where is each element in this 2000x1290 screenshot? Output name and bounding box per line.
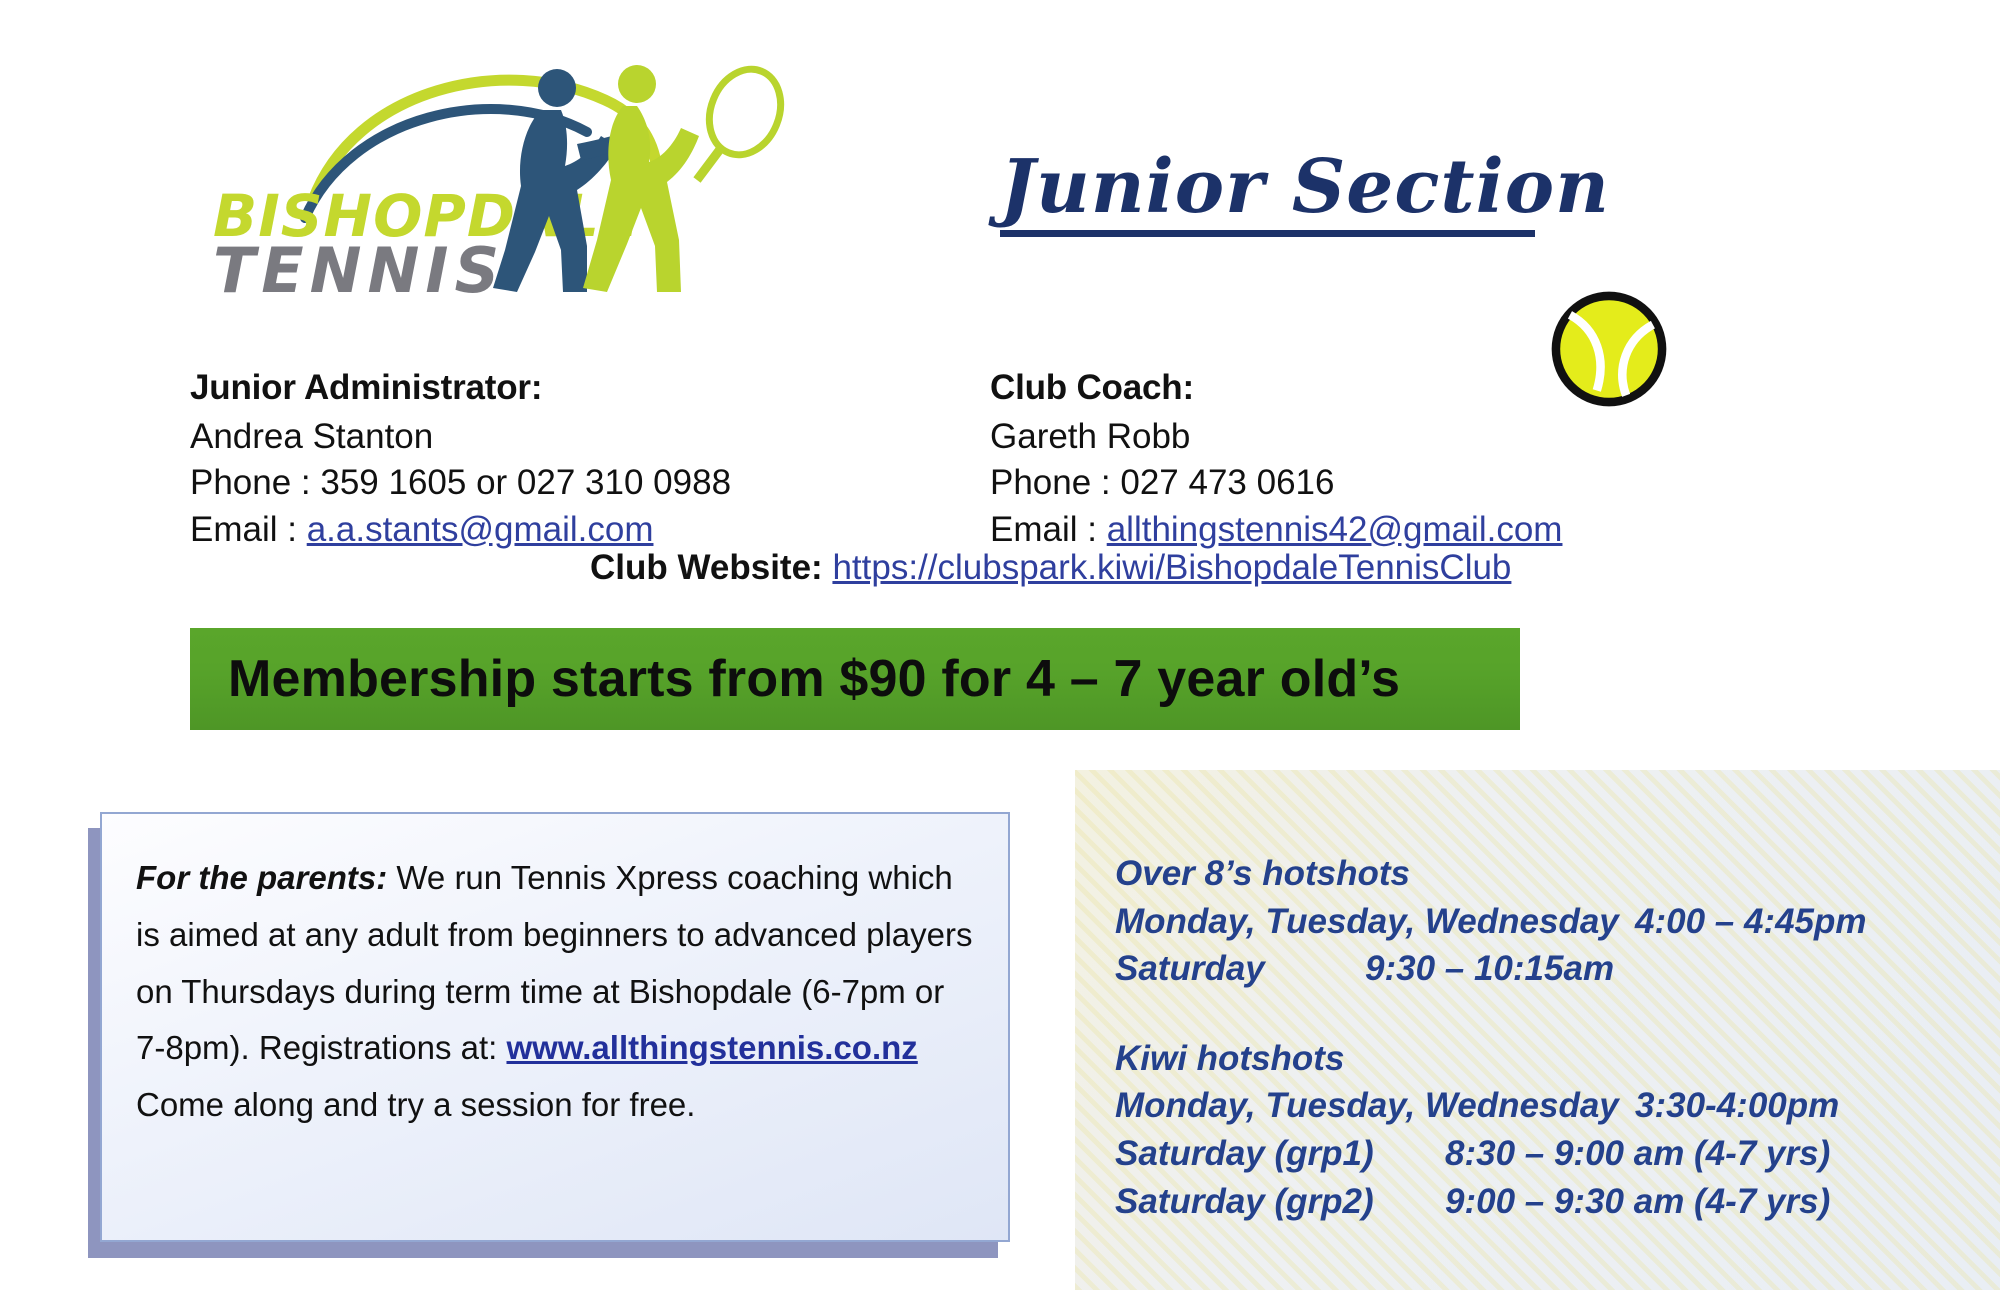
- admin-email-label: Email :: [190, 510, 307, 549]
- schedule-row: Saturday (grp2) 9:00 – 9:30 am (4-7 yrs): [1115, 1178, 2000, 1226]
- admin-name: Andrea Stanton: [190, 414, 830, 461]
- coach-email-line: Email : allthingstennis42@gmail.com: [990, 507, 1630, 554]
- schedule-group-over8s: Over 8’s hotshots Monday, Tuesday, Wedne…: [1115, 850, 2000, 993]
- schedule-time: 3:30-4:00pm: [1635, 1082, 1839, 1130]
- schedule-group-title: Over 8’s hotshots: [1115, 850, 2000, 898]
- coach-email-label: Email :: [990, 510, 1107, 549]
- coach-email-link[interactable]: allthingstennis42@gmail.com: [1107, 510, 1563, 549]
- club-website-label: Club Website:: [590, 548, 823, 587]
- schedule-day: Saturday: [1115, 945, 1365, 993]
- membership-banner-text: Membership starts from $90 for 4 – 7 yea…: [190, 649, 1400, 709]
- logo-racquet: [697, 58, 793, 180]
- club-website-link[interactable]: https://clubspark.kiwi/BishopdaleTennisC…: [832, 548, 1511, 587]
- schedule-day: Monday, Tuesday, Wednesday: [1115, 898, 1635, 946]
- schedule-time: 9:30 – 10:15am: [1365, 945, 1614, 993]
- title-underline: [1000, 230, 1535, 237]
- admin-heading: Junior Administrator:: [190, 365, 830, 412]
- schedule-day: Saturday (grp2): [1115, 1178, 1445, 1226]
- contact-admin: Junior Administrator: Andrea Stanton Pho…: [190, 365, 830, 553]
- schedule-group-title: Kiwi hotshots: [1115, 1035, 2000, 1083]
- parents-info-box: For the parents: We run Tennis Xpress co…: [100, 812, 1010, 1242]
- admin-email-line: Email : a.a.stants@gmail.com: [190, 507, 830, 554]
- schedule-panel: Over 8’s hotshots Monday, Tuesday, Wedne…: [1075, 770, 2000, 1290]
- schedule-row: Saturday 9:30 – 10:15am: [1115, 945, 2000, 993]
- club-logo: BISHOPDALE TENNIS: [205, 40, 825, 300]
- parents-lead: For the parents:: [136, 859, 387, 896]
- schedule-day: Monday, Tuesday, Wednesday: [1115, 1082, 1635, 1130]
- membership-banner: Membership starts from $90 for 4 – 7 yea…: [190, 628, 1520, 730]
- parents-text: For the parents: We run Tennis Xpress co…: [136, 850, 974, 1134]
- schedule-time: 4:00 – 4:45pm: [1635, 898, 1867, 946]
- schedule-time: 8:30 – 9:00 am (4-7 yrs): [1445, 1130, 1830, 1178]
- schedule-row: Monday, Tuesday, Wednesday 3:30-4:00pm: [1115, 1082, 2000, 1130]
- contact-coach: Club Coach: Gareth Robb Phone : 027 473 …: [990, 365, 1630, 553]
- page-title-block: Junior Section: [1000, 150, 1560, 237]
- admin-email-link[interactable]: a.a.stants@gmail.com: [307, 510, 654, 549]
- page-title: Junior Section: [1000, 150, 1560, 224]
- parents-registration-link[interactable]: www.allthingstennis.co.nz: [506, 1029, 917, 1066]
- schedule-day: Saturday (grp1): [1115, 1130, 1445, 1178]
- admin-phone: Phone : 359 1605 or 027 310 0988: [190, 460, 830, 507]
- club-website-line: Club Website: https://clubspark.kiwi/Bis…: [590, 548, 1511, 588]
- schedule-time: 9:00 – 9:30 am (4-7 yrs): [1445, 1178, 1830, 1226]
- coach-heading: Club Coach:: [990, 365, 1630, 412]
- coach-phone: Phone : 027 473 0616: [990, 460, 1630, 507]
- parents-body-after: Come along and try a session for free.: [136, 1086, 695, 1123]
- schedule-row: Monday, Tuesday, Wednesday 4:00 – 4:45pm: [1115, 898, 2000, 946]
- schedule-row: Saturday (grp1) 8:30 – 9:00 am (4-7 yrs): [1115, 1130, 2000, 1178]
- logo-word-tennis: TENNIS: [213, 234, 505, 300]
- schedule-group-kiwi: Kiwi hotshots Monday, Tuesday, Wednesday…: [1115, 1035, 2000, 1225]
- coach-name: Gareth Robb: [990, 414, 1630, 461]
